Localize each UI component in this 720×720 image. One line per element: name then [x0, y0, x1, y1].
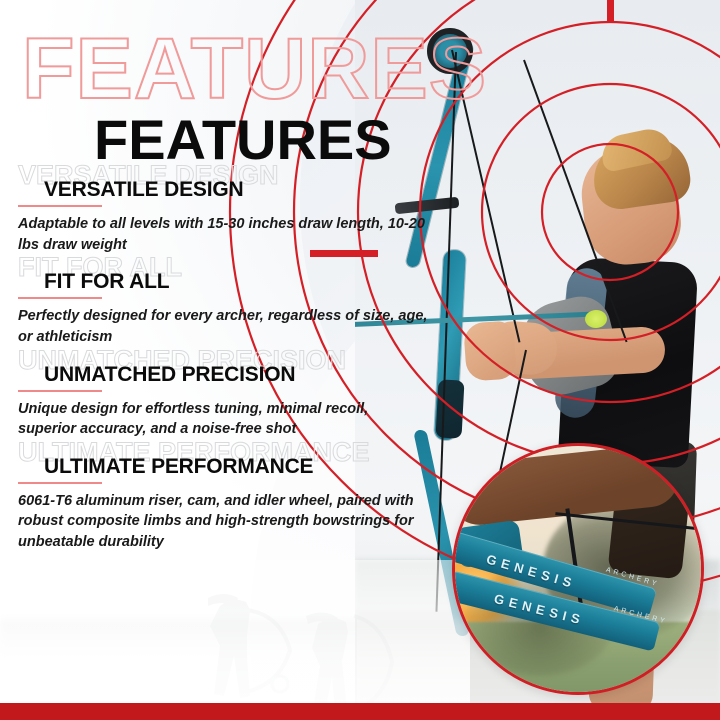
- silhouette-haze-overlay: [0, 560, 470, 706]
- bow-limb-closeup-inset: GENESIS GENESIS ARCHERY ARCHERY: [452, 443, 704, 695]
- feature-heading: FIT FOR ALL: [44, 270, 440, 293]
- target-tick-top: [607, 0, 614, 23]
- archer-bow-hand: [463, 320, 517, 381]
- feature-underline: [18, 482, 102, 484]
- feature-body: Adaptable to all levels with 15-30 inche…: [18, 214, 428, 255]
- feature-body: Unique design for effortless tuning, min…: [18, 399, 428, 440]
- feature-heading: ULTIMATE PERFORMANCE: [44, 455, 440, 478]
- feature-body: 6061-T6 aluminum riser, cam, and idler w…: [18, 491, 428, 553]
- feature-underline: [18, 205, 102, 207]
- features-list: VERSATILE DESIGN VERSATILE DESIGN Adapta…: [0, 178, 440, 568]
- infographic-canvas: GENESIS GENESIS ARCHERY ARCHERY FEATURES…: [0, 0, 720, 720]
- feature-item: FIT FOR ALL FIT FOR ALL Perfectly design…: [0, 270, 440, 347]
- feature-item: UNMATCHED PRECISION UNMATCHED PRECISION …: [0, 363, 440, 440]
- ghost-title-outline: FEATURES: [22, 26, 487, 112]
- feature-body: Perfectly designed for every archer, reg…: [18, 306, 428, 347]
- bottom-accent-bar: [0, 703, 720, 720]
- feature-heading: VERSATILE DESIGN: [44, 178, 440, 201]
- feature-underline: [18, 297, 102, 299]
- feature-item: VERSATILE DESIGN VERSATILE DESIGN Adapta…: [0, 178, 440, 255]
- feature-underline: [18, 390, 102, 392]
- feature-heading: UNMATCHED PRECISION: [44, 363, 440, 386]
- feature-item: ULTIMATE PERFORMANCE ULTIMATE PERFORMANC…: [0, 455, 440, 553]
